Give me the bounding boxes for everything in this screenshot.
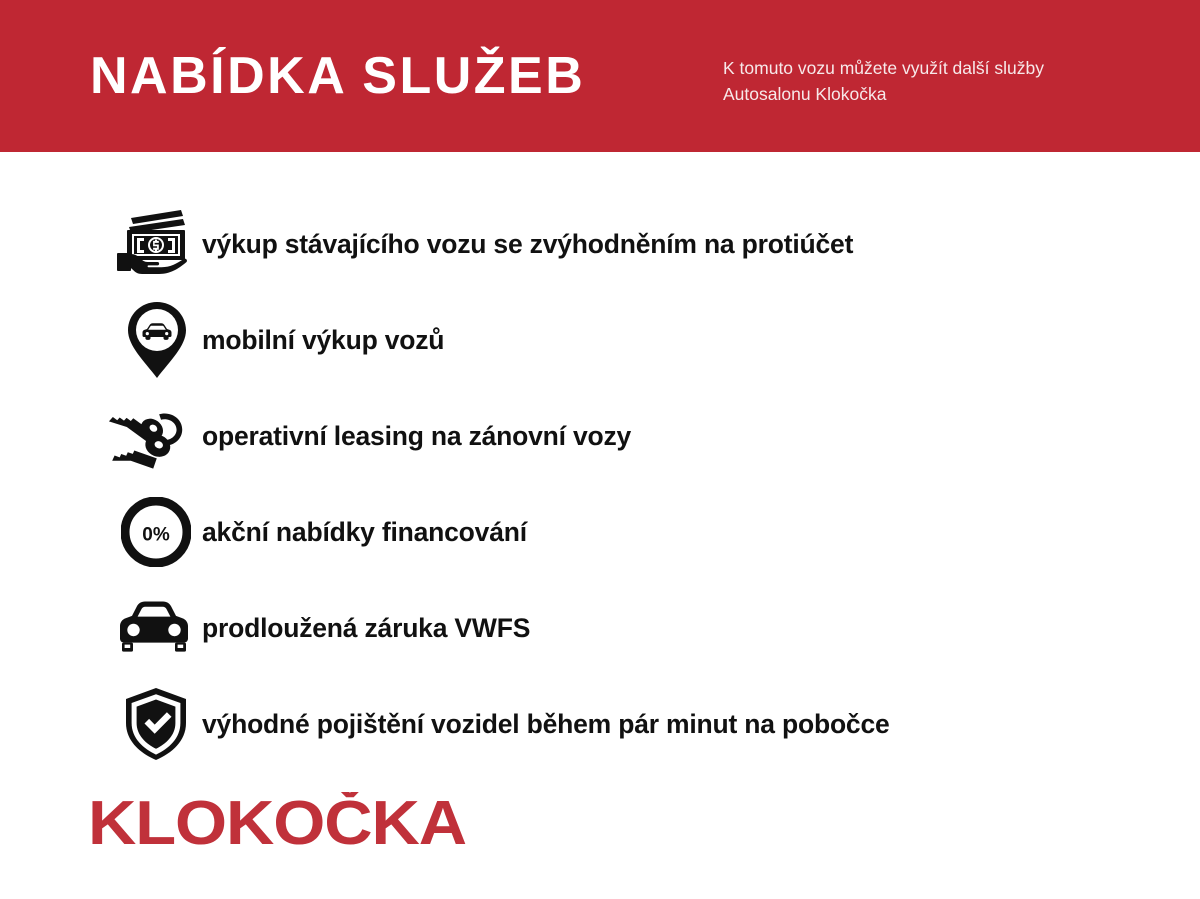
service-item-financing: 0% akční nabídky financování	[0, 484, 1200, 580]
klokocka-logo: KLOKOČKA	[88, 792, 488, 854]
car-front-icon	[111, 580, 197, 676]
car-keys-icon	[106, 388, 192, 484]
service-item-label: mobilní výkup vozů	[202, 292, 444, 388]
header-banner: NABÍDKA SLUŽEB K tomuto vozu můžete využ…	[0, 0, 1200, 152]
service-item-trade-in: výkup stávajícího vozu se zvýhodněním na…	[0, 196, 1200, 292]
shield-check-icon	[113, 676, 199, 772]
service-item-label: prodloužená záruka VWFS	[202, 580, 530, 676]
zero-percent-label: 0%	[142, 525, 170, 546]
service-item-mobile-buyout: mobilní výkup vozů	[0, 292, 1200, 388]
header-subtitle-line-2: Autosalonu Klokočka	[723, 81, 1123, 107]
service-offer-page: NABÍDKA SLUŽEB K tomuto vozu můžete využ…	[0, 0, 1200, 899]
service-item-operating-lease: operativní leasing na zánovní vozy	[0, 388, 1200, 484]
header-subtitle-line-1: K tomuto vozu můžete využít další služby	[723, 55, 1123, 81]
services-list: výkup stávajícího vozu se zvýhodněním na…	[0, 196, 1200, 772]
service-item-label: výhodné pojištění vozidel během pár minu…	[202, 676, 890, 772]
map-pin-car-icon	[114, 292, 200, 388]
service-item-insurance: výhodné pojištění vozidel během pár minu…	[0, 676, 1200, 772]
service-item-label: operativní leasing na zánovní vozy	[202, 388, 631, 484]
zero-percent-circle-icon: 0%	[113, 484, 199, 580]
service-item-label: výkup stávajícího vozu se zvýhodněním na…	[202, 196, 853, 292]
klokocka-logo-text: KLOKOČKA	[88, 792, 466, 854]
service-item-label: akční nabídky financování	[202, 484, 527, 580]
service-item-extended-warranty: prodloužená záruka VWFS	[0, 580, 1200, 676]
page-title: NABÍDKA SLUŽEB	[90, 45, 585, 107]
header-subtitle: K tomuto vozu můžete využít další služby…	[723, 55, 1123, 107]
cash-in-hand-icon	[110, 196, 196, 292]
